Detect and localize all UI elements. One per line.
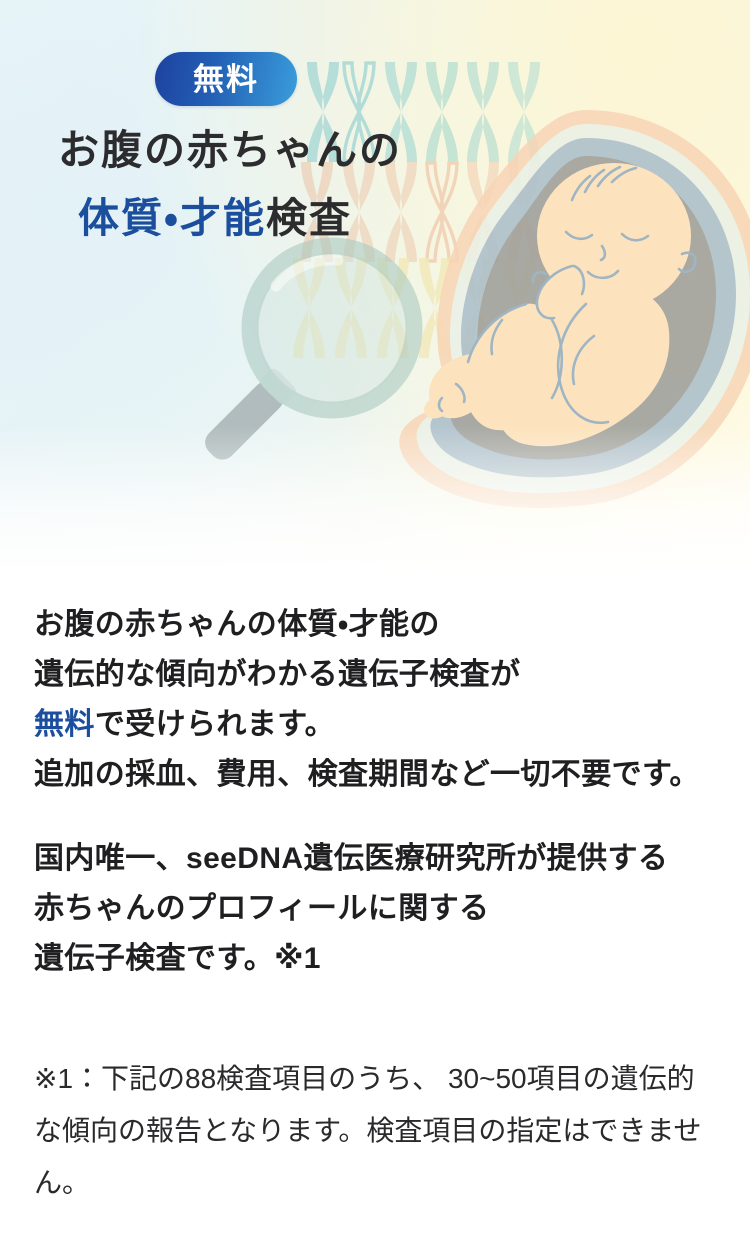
- body-copy: お腹の赤ちゃんの体質・才能の 遺伝的な傾向がわかる遺伝子検査が 無料で受けられま…: [34, 600, 724, 984]
- landing-page: 無料 お腹の赤ちゃんの 体質・才能検査 お腹の赤ちゃんの体質・才能の 遺伝的な傾…: [0, 0, 750, 1252]
- paragraph-two: 国内唯一、seeDNA遺伝医療研究所が提供する 赤ちゃんのプロフィールに関する …: [34, 834, 724, 984]
- page-title-line-1: お腹の赤ちゃんの: [0, 116, 460, 184]
- hero-bottom-fade: [0, 425, 750, 575]
- paragraph-one: お腹の赤ちゃんの体質・才能の 遺伝的な傾向がわかる遺伝子検査が 無料で受けられま…: [34, 600, 724, 800]
- page-title-line-2: 体質・才能検査: [0, 184, 460, 252]
- paragraph-two-line-3: 遺伝子検査です。※1: [34, 934, 724, 984]
- paragraph-two-line-1: 国内唯一、seeDNA遺伝医療研究所が提供する: [34, 834, 724, 884]
- page-title-accent: 体質・才能: [78, 195, 266, 241]
- hero-section: 無料 お腹の赤ちゃんの 体質・才能検査: [0, 0, 750, 575]
- paragraph-two-line-2: 赤ちゃんのプロフィールに関する: [34, 884, 724, 934]
- free-badge-label: 無料: [193, 64, 259, 95]
- footnote-text: ※1：下記の88検査項目のうち、 30~50項目の遺伝的な傾向の報告となります。…: [34, 1053, 722, 1209]
- paragraph-one-line-4: 追加の採血、費用、検査期間など一切不要です。: [34, 750, 724, 800]
- paragraph-spacer: [34, 800, 724, 834]
- page-title: お腹の赤ちゃんの 体質・才能検査: [0, 116, 460, 252]
- paragraph-one-line-1: お腹の赤ちゃんの体質・才能の: [34, 600, 724, 650]
- paragraph-one-line-3: 無料で受けられます。: [34, 700, 724, 750]
- free-badge: 無料: [155, 52, 297, 106]
- page-title-suffix: 検査: [266, 195, 352, 241]
- paragraph-one-line-3-rest: で受けられます。: [95, 708, 335, 741]
- paragraph-one-line-2: 遺伝的な傾向がわかる遺伝子検査が: [34, 650, 724, 700]
- free-highlight: 無料: [34, 708, 95, 741]
